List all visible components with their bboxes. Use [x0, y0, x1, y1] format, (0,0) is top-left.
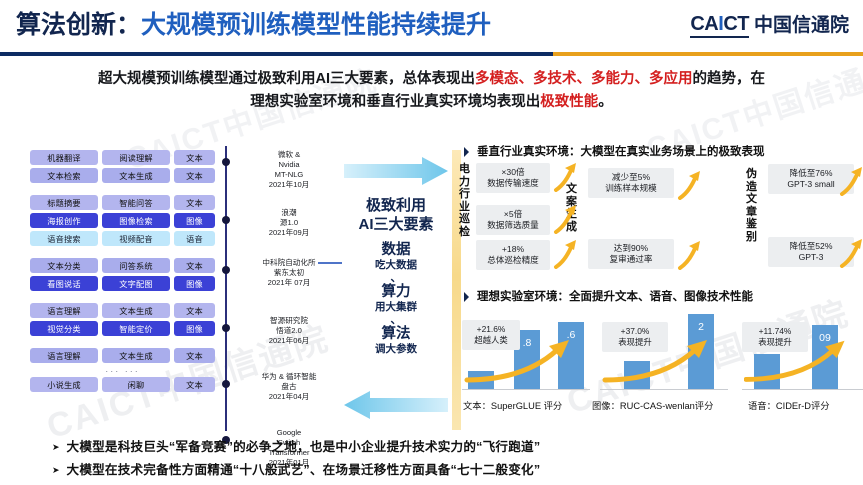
chart-axis	[462, 389, 590, 390]
task-cell: 文本	[174, 348, 215, 363]
slide-root: CAICT中国信通院 CAICT中国信通院 CAICT中国信通院 CAICT中国…	[0, 0, 863, 485]
factor-separator-1: 、	[342, 274, 450, 283]
task-cell: 文本生成	[102, 303, 170, 318]
task-row: 看图说话文字配图图像	[30, 276, 215, 291]
stat-label: 复审通过率	[610, 254, 653, 265]
task-cell: 闲聊	[102, 377, 170, 392]
growth-arrow-icon	[464, 340, 586, 384]
timeline-axis	[225, 146, 227, 431]
timeline-entry: 浪潮源1.02021年09月	[238, 208, 340, 238]
task-cell: 标题摘要	[30, 195, 98, 210]
factor-algorithm: 算法 调大参数	[342, 326, 450, 356]
headline-line-1: 极致利用	[366, 197, 426, 214]
page-title-prefix: 算法创新：	[16, 11, 141, 39]
growth-arrow-icon	[744, 340, 860, 384]
timeline-name: 悟道2.0	[238, 326, 340, 336]
up-arrow-icon	[676, 240, 702, 270]
factor-algorithm-title: 算法	[342, 326, 450, 343]
chevron-right-icon: ➤	[52, 440, 60, 455]
task-cell: 视频配音	[102, 231, 170, 246]
factor-data-desc: 吃大数据	[342, 259, 450, 272]
timeline-name: Nvidia	[238, 160, 340, 170]
factor-algorithm-desc: 调大参数	[342, 343, 450, 356]
stat-label: GPT-3 small	[787, 179, 834, 190]
stat-label: 训练样本规模	[605, 183, 657, 194]
timeline-name: 盘古	[238, 382, 340, 392]
divider-right-segment	[553, 52, 863, 56]
up-arrow-icon	[838, 238, 863, 268]
header-divider	[0, 52, 863, 56]
task-cell: 海报创作	[30, 213, 98, 228]
chart-axis	[600, 389, 728, 390]
vertical-heading-text: 垂直行业真实环境：大模型在真实业务场景上的极致表现	[477, 146, 765, 158]
task-row: 文本检索文本生成文本	[30, 168, 215, 183]
stat-value: 达到90%	[614, 243, 648, 254]
up-arrow-icon	[552, 239, 578, 269]
task-cell: 机器翻译	[30, 150, 98, 165]
center-connector-line	[318, 262, 342, 264]
task-grid: 机器翻译阅读理解文本文本检索文本生成文本标题摘要智能问答文本海报创作图像检索图像…	[30, 150, 215, 395]
ai-factors-headline: 极致利用 AI三大要素	[342, 196, 450, 234]
headline-line-2: AI三大要素	[358, 216, 433, 233]
timeline-date: 2021年10月	[238, 180, 340, 190]
task-cell: 智能问答	[102, 195, 170, 210]
grid-spacer	[30, 339, 215, 348]
bar-chart: 2	[600, 308, 728, 390]
task-cell: 看图说话	[30, 276, 98, 291]
task-cell: 图像	[174, 213, 215, 228]
task-cell: 文字配图	[102, 276, 170, 291]
task-cell: 视觉分类	[30, 321, 98, 336]
timeline-entry: 华为 & 循环智能盘古2021年04月	[238, 372, 340, 402]
stat-value: ×30倍	[501, 167, 524, 178]
timeline-dot	[222, 158, 230, 166]
arrow-right-icon	[344, 156, 448, 186]
bullet-item: ➤大模型在技术完备性方面精通“十八般武艺”、在场景迁移性方面具备“七十二般变化”	[52, 463, 842, 478]
bullet-text: 大模型是科技巨头“军备竞赛”的必争之地，也是中小企业提升技术实力的“飞行跑道”	[67, 440, 541, 455]
task-cell: 文本	[174, 195, 215, 210]
task-cell: 语言理解	[30, 303, 98, 318]
task-row: 语言理解文本生成文本	[30, 348, 215, 363]
task-row: 机器翻译阅读理解文本	[30, 150, 215, 165]
diamond-bullet-icon	[464, 292, 474, 302]
chart-badge-value: +11.74%	[759, 326, 792, 337]
task-cell: 文本	[174, 150, 215, 165]
task-cell: 文本生成	[102, 348, 170, 363]
subtitle-part-4: 。	[598, 94, 613, 110]
task-cell: 文本	[174, 303, 215, 318]
caict-logo: CAICT 中国信通院	[690, 13, 849, 38]
grid-spacer	[30, 186, 215, 195]
task-cell: 文本生成	[102, 168, 170, 183]
task-cell: 文本	[174, 168, 215, 183]
logo-cn-text: 中国信通院	[754, 15, 849, 37]
bullet-item: ➤大模型是科技巨头“军备竞赛”的必争之地，也是中小企业提升技术实力的“飞行跑道”	[52, 440, 842, 455]
timeline-org: Google	[238, 428, 340, 438]
timeline-dot	[222, 216, 230, 224]
stat-value: +18%	[502, 244, 524, 255]
label-power-inspection: 电 力 行 业 巡 检	[458, 163, 471, 238]
page-title-main: 大规模预训练模型性能持续提升	[141, 11, 491, 39]
stat-label: 数据筛选质量	[487, 220, 539, 231]
stat-chip: +18%总体巡检精度	[476, 240, 550, 270]
timeline-date: 2021年09月	[238, 228, 340, 238]
logo-ct: CT	[723, 13, 749, 35]
stat-value: 减少至5%	[612, 172, 650, 183]
timeline-dot	[222, 266, 230, 274]
task-cell: 图像	[174, 276, 215, 291]
timeline-entry: 智源研究院悟道2.02021年06月	[238, 316, 340, 346]
stat-chip: 减少至5%训练样本规模	[588, 168, 674, 198]
stat-value: 降低至76%	[790, 168, 833, 179]
chart-badge-value: +21.6%	[477, 324, 506, 335]
timeline-org: 华为 & 循环智能	[238, 372, 340, 382]
bar-chart: 09	[742, 308, 863, 390]
timeline-org: 智源研究院	[238, 316, 340, 326]
conclusion-bullets: ➤大模型是科技巨头“军备竞赛”的必争之地，也是中小企业提升技术实力的“飞行跑道”…	[52, 440, 842, 485]
logo-en-text: CAICT	[690, 13, 749, 38]
stat-value: ×5倍	[504, 209, 522, 220]
chart-caption: 文本：SuperGLUE 评分	[463, 398, 562, 412]
ai-factors-panel: 极致利用 AI三大要素 数据 吃大数据 、 算力 用大集群 、 算法 调大参数	[342, 150, 450, 430]
up-arrow-icon	[552, 162, 578, 192]
grid-ellipsis: ··· ···	[30, 366, 215, 377]
factor-compute-desc: 用大集群	[342, 301, 450, 314]
timeline-model: MT-NLG	[238, 170, 340, 180]
task-cell: 问答系统	[102, 258, 170, 273]
task-row: 语言理解文本生成文本	[30, 303, 215, 318]
task-cell: 智能定价	[102, 321, 170, 336]
subtitle-part-3: 理想实验室环境和垂直行业真实环境均表现出	[250, 94, 540, 110]
task-row: 文本分类问答系统文本	[30, 258, 215, 273]
factor-separator-2: 、	[342, 316, 450, 325]
diamond-bullet-icon	[464, 147, 474, 157]
stat-label: 总体巡检精度	[487, 255, 539, 266]
timeline-dot	[222, 380, 230, 388]
chart-axis	[742, 389, 863, 390]
divider-left-segment	[0, 52, 553, 56]
logo-ca: CA	[690, 13, 718, 35]
factor-data: 数据 吃大数据	[342, 242, 450, 272]
task-cell: 小说生成	[30, 377, 98, 392]
stat-chip: ×30倍数据传输速度	[476, 163, 550, 193]
factor-compute: 算力 用大集群	[342, 284, 450, 314]
task-cell: 语言理解	[30, 348, 98, 363]
chart-badge-value: +37.0%	[621, 326, 650, 337]
grid-spacer	[30, 294, 215, 303]
stat-chip: 达到90%复审通过率	[588, 239, 674, 269]
timeline-date: 2021年 07月	[238, 278, 340, 288]
timeline-name: 源1.0	[238, 218, 340, 228]
timeline-date: 2021年04月	[238, 392, 340, 402]
factor-compute-title: 算力	[342, 284, 450, 301]
bullet-text: 大模型在技术完备性方面精通“十八般武艺”、在场景迁移性方面具备“七十二般变化”	[67, 463, 541, 478]
subtitle-highlight-1: 多模态、多技术、多能力、多应用	[475, 71, 693, 87]
task-row: 标题摘要智能问答文本	[30, 195, 215, 210]
task-row: 小说生成闲聊文本	[30, 377, 215, 392]
lab-heading-text: 理想实验室环境：全面提升文本、语音、图像技术性能	[477, 291, 753, 303]
subtitle-part-2: 的趋势，在	[693, 71, 766, 87]
subtitle-paragraph: 超大规模预训练模型通过极致利用AI三大要素，总体表现出多模态、多技术、多能力、多…	[24, 68, 839, 114]
page-title: 算法创新：大规模预训练模型性能持续提升	[16, 8, 491, 42]
subtitle-part-1: 超大规模预训练模型通过极致利用AI三大要素，总体表现出	[98, 71, 475, 87]
vertical-section-heading: 垂直行业真实环境：大模型在真实业务场景上的极致表现	[464, 143, 765, 159]
model-timeline: 微软 &NvidiaMT-NLG2021年10月浪潮源1.02021年09月中科…	[222, 146, 340, 431]
task-cell: 语音	[174, 231, 215, 246]
task-cell: 图像	[174, 321, 215, 336]
stat-label: 数据传输速度	[487, 178, 539, 189]
grid-spacer	[30, 249, 215, 258]
timeline-entry: 微软 &NvidiaMT-NLG2021年10月	[238, 150, 340, 190]
task-cell: 文本分类	[30, 258, 98, 273]
task-row: 语音搜索视频配音语音	[30, 231, 215, 246]
label-fake-article-detection: 伪 造 文 章 鉴 别	[745, 168, 758, 243]
lab-section-heading: 理想实验室环境：全面提升文本、语音、图像技术性能	[464, 288, 753, 304]
task-cell: 文本	[174, 377, 215, 392]
subtitle-highlight-2: 极致性能	[540, 94, 598, 110]
timeline-org: 微软 &	[238, 150, 340, 160]
stat-chip: ×5倍数据筛选质量	[476, 205, 550, 235]
arrow-left-icon	[344, 390, 448, 420]
chart-caption: 图像：RUC-CAS-wenlan评分	[592, 398, 713, 412]
task-cell: 文本检索	[30, 168, 98, 183]
chart-caption: 语音：CIDEr-D评分	[748, 398, 830, 412]
timeline-dot	[222, 324, 230, 332]
bar-value-label: 2	[688, 321, 714, 333]
up-arrow-icon	[676, 170, 702, 200]
timeline-org: 浪潮	[238, 208, 340, 218]
task-cell: 图像检索	[102, 213, 170, 228]
task-cell: 文本	[174, 258, 215, 273]
chevron-right-icon: ➤	[52, 463, 60, 478]
up-arrow-icon	[552, 204, 578, 234]
timeline-date: 2021年06月	[238, 336, 340, 346]
up-arrow-icon	[838, 166, 863, 196]
timeline-name: 紫东太初	[238, 268, 340, 278]
stat-value: 降低至52%	[790, 241, 833, 252]
factor-data-title: 数据	[342, 242, 450, 259]
stat-label: GPT-3	[799, 252, 824, 263]
task-cell: 语音搜索	[30, 231, 98, 246]
growth-arrow-icon	[602, 340, 724, 384]
task-row: 海报创作图像检索图像	[30, 213, 215, 228]
task-row: 视觉分类智能定价图像	[30, 321, 215, 336]
task-cell: 阅读理解	[102, 150, 170, 165]
